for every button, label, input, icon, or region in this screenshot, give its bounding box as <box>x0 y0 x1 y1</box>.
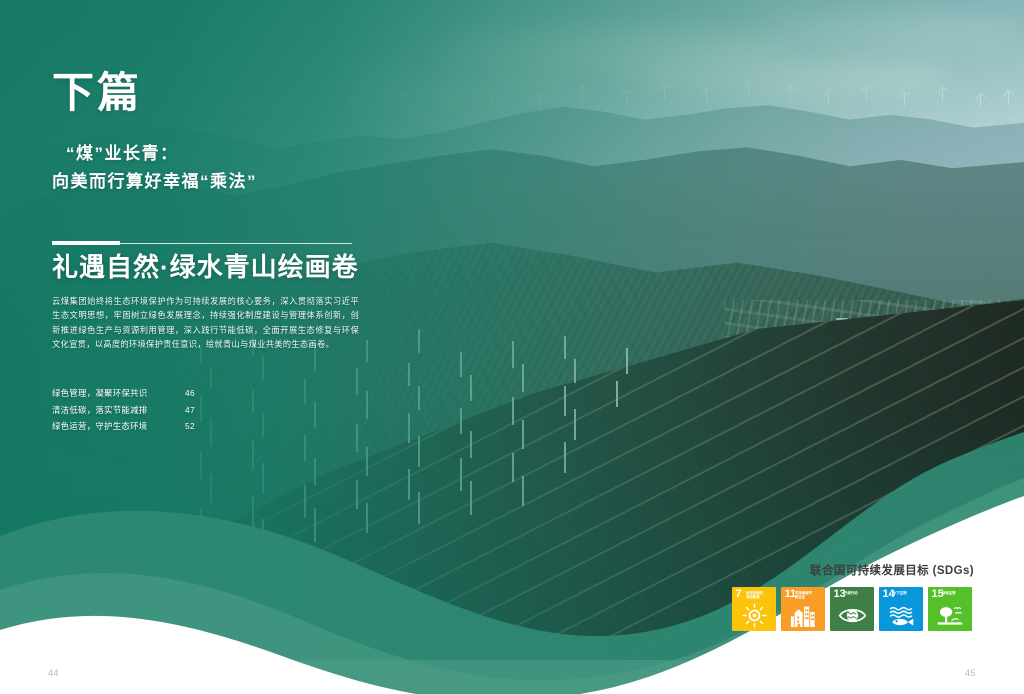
content-layer: 下篇 “煤”业长青： 向美而行算好幸福“乘法” 礼遇自然·绿水青山绘画卷 云煤集… <box>0 0 1024 694</box>
sdg-goal-label: 陆地生物 <box>942 591 970 595</box>
sdg-block: 联合国可持续发展目标 (SDGs) 7经济适用的清洁能源11可持续城市和社区13… <box>732 562 976 631</box>
toc-row-page: 46 <box>185 385 195 402</box>
sdg-goal-11[interactable]: 11可持续城市和社区 <box>781 587 825 631</box>
toc-row[interactable]: 清洁低碳，落实节能减排47 <box>52 402 252 419</box>
report-spread: 下篇 “煤”业长青： 向美而行算好幸福“乘法” 礼遇自然·绿水青山绘画卷 云煤集… <box>0 0 1024 694</box>
tree-birds-icon <box>928 602 972 628</box>
toc-row[interactable]: 绿色运营，守护生态环境52 <box>52 418 252 435</box>
sdg-goal-label: 可持续城市和社区 <box>795 591 823 599</box>
part-label: 下篇 <box>52 72 142 114</box>
sdg-goal-label: 气候行动 <box>844 591 872 595</box>
page-number-right: 45 <box>965 668 976 678</box>
page-number-left: 44 <box>48 668 59 678</box>
toc-row[interactable]: 绿色管理，凝聚环保共识46 <box>52 385 252 402</box>
table-of-contents: 绿色管理，凝聚环保共识46清洁低碳，落实节能减排47绿色运营，守护生态环境52 <box>52 385 252 435</box>
body-paragraph: 云煤集团始终将生态环境保护作为可持续发展的核心要务，深入贯彻落实习近平生态文明思… <box>52 294 359 352</box>
sdg-icon-row: 7经济适用的清洁能源11可持续城市和社区13气候行动14水下生物15陆地生物 <box>732 587 976 631</box>
toc-row-title: 绿色运营，守护生态环境 <box>52 418 185 435</box>
globe-eye-icon <box>830 602 874 628</box>
sdg-goal-label: 水下生物 <box>893 591 921 595</box>
sdg-goal-number: 7 <box>736 589 742 600</box>
subtitle-line-2: 向美而行算好幸福“乘法” <box>52 168 257 196</box>
divider-thick-rule <box>52 241 120 245</box>
subtitle-block: “煤”业长青： 向美而行算好幸福“乘法” <box>52 140 257 196</box>
sdg-title: 联合国可持续发展目标 (SDGs) <box>732 562 976 578</box>
sdg-goal-7[interactable]: 7经济适用的清洁能源 <box>732 587 776 631</box>
toc-row-title: 清洁低碳，落实节能减排 <box>52 402 185 419</box>
toc-row-page: 52 <box>185 418 195 435</box>
sdg-goal-13[interactable]: 13气候行动 <box>830 587 874 631</box>
toc-row-page: 47 <box>185 402 195 419</box>
sdg-goal-15[interactable]: 15陆地生物 <box>928 587 972 631</box>
fish-waves-icon <box>879 602 923 628</box>
toc-row-title: 绿色管理，凝聚环保共识 <box>52 385 185 402</box>
title-divider <box>52 241 352 247</box>
sdg-goal-14[interactable]: 14水下生物 <box>879 587 923 631</box>
section-title: 礼遇自然·绿水青山绘画卷 <box>52 251 359 284</box>
sdg-goal-label: 经济适用的清洁能源 <box>746 591 774 599</box>
sun-icon <box>732 602 776 628</box>
city-buildings-icon <box>781 602 825 628</box>
subtitle-line-1: “煤”业长青： <box>52 140 257 168</box>
